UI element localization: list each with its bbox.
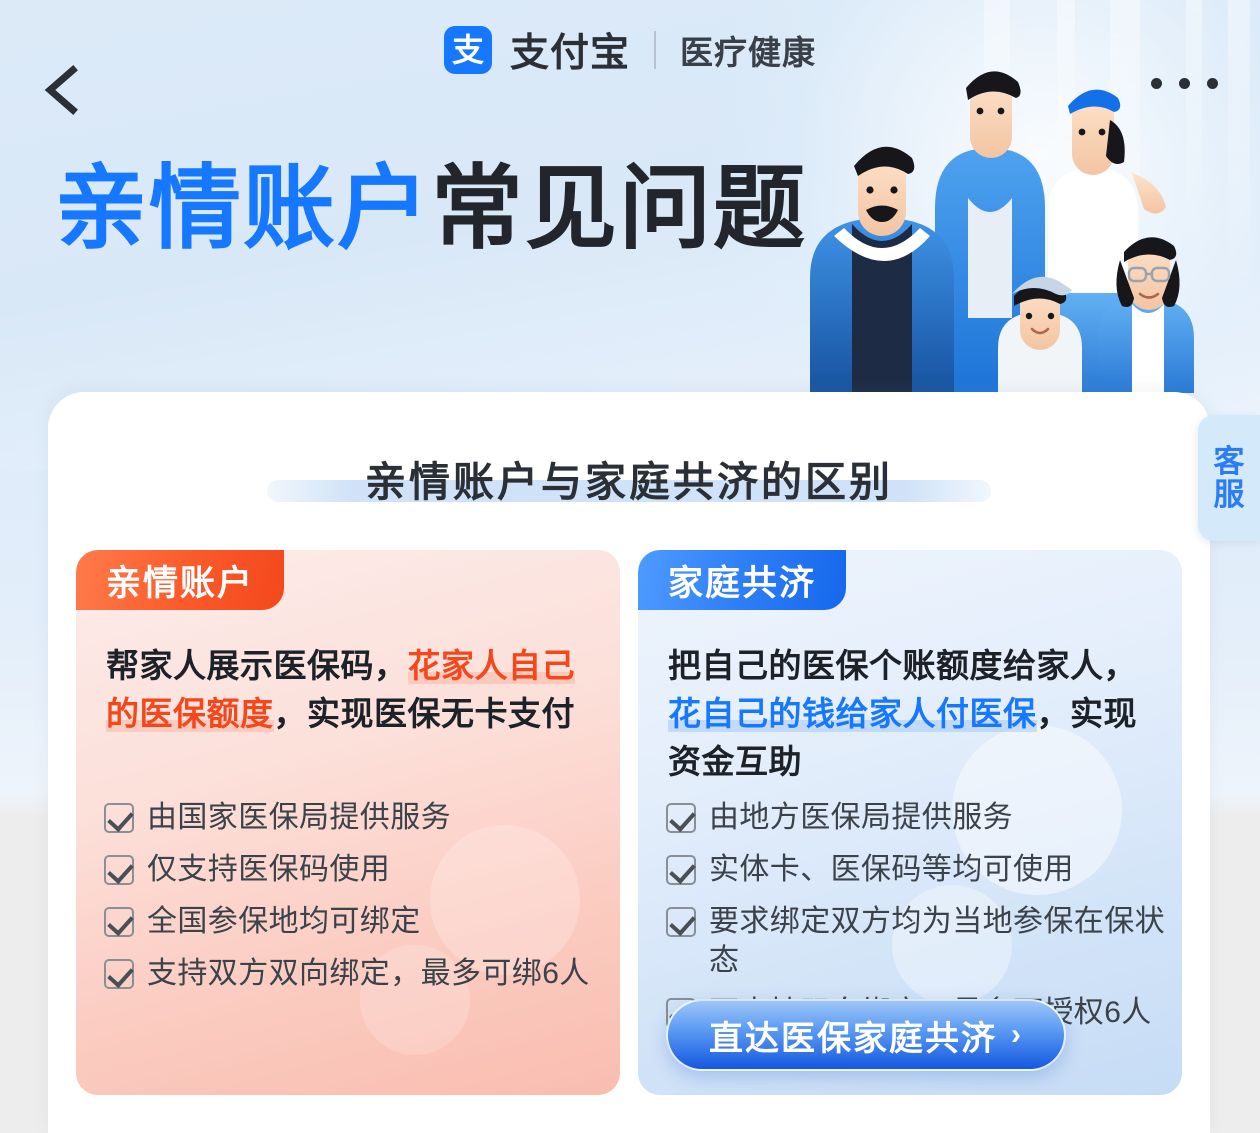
brand-subtitle: 医疗健康 [680,26,816,74]
feature-item: 由国家医保局提供服务 [104,798,604,837]
card-qinqing-zhanghu: 亲情账户 帮家人展示医保码，花家人自己的医保额度，实现医保无卡支付 由国家医保局… [76,550,620,1095]
check-icon [666,803,696,833]
feature-item: 全国参保地均可绑定 [104,902,604,941]
chevron-left-icon [36,62,92,118]
desc-plain-1: 帮家人展示医保码， [106,647,408,684]
feature-label: 由地方医保局提供服务 [709,798,1013,837]
alipay-logo-glyph: 支 [452,34,484,66]
brand-name: 支付宝 [510,22,630,78]
feature-item: 由地方医保局提供服务 [666,798,1166,837]
card-badge-left: 亲情账户 [76,550,284,610]
page-title: 亲情账户常见问题 [55,163,807,255]
page-title-rest: 常见问题 [431,158,807,260]
cta-label: 直达医保家庭共济 [709,1011,997,1060]
check-icon [104,959,134,989]
card-description-right: 把自己的医保个账额度给家人，花自己的钱给家人付医保，实现资金互助 [668,642,1160,786]
more-dots-icon[interactable] [1151,78,1218,89]
feature-label: 全国参保地均可绑定 [147,902,421,941]
top-bar: 支 支付宝 医疗健康 [0,0,1260,110]
feature-label: 实体卡、医保码等均可使用 [709,850,1074,889]
goto-family-mutual-aid-button[interactable]: 直达医保家庭共济 › [666,999,1066,1071]
feature-label: 要求绑定双方均为当地参保在保状态 [709,902,1166,980]
card-jiating-gongji: 家庭共济 把自己的医保个账额度给家人，花自己的钱给家人付医保，实现资金互助 由地… [638,550,1182,1095]
customer-service-label-line1: 客 [1214,445,1245,478]
content-panel: 亲情账户与家庭共济的区别 亲情账户 帮家人展示医保码，花家人自己的医保额度，实现… [48,392,1210,1133]
check-icon [104,855,134,885]
desc-highlight: 花自己的钱给家人付医保 [668,695,1037,732]
feature-label: 由国家医保局提供服务 [147,798,451,837]
back-button[interactable] [36,62,92,118]
section-heading: 亲情账户与家庭共济的区别 [259,448,999,504]
check-icon [666,855,696,885]
check-icon [666,907,696,937]
brand-divider [654,31,656,69]
comparison-cards: 亲情账户 帮家人展示医保码，花家人自己的医保额度，实现医保无卡支付 由国家医保局… [76,550,1182,1095]
feature-label: 仅支持医保码使用 [147,850,390,889]
feature-item: 仅支持医保码使用 [104,850,604,889]
feature-list-left: 由国家医保局提供服务 仅支持医保码使用 全国参保地均可绑定 支持双方双向绑定，最… [104,798,604,1006]
card-description-left: 帮家人展示医保码，花家人自己的医保额度，实现医保无卡支付 [106,642,598,738]
check-icon [104,803,134,833]
chevron-right-icon: › [1011,1018,1023,1052]
feature-item: 实体卡、医保码等均可使用 [666,850,1166,889]
desc-plain-2: ，实现医保无卡支付 [274,695,576,732]
customer-service-tab[interactable]: 客 服 [1198,415,1260,541]
check-icon [104,907,134,937]
section-heading-text: 亲情账户与家庭共济的区别 [365,459,893,505]
brand-header: 支 支付宝 医疗健康 [444,22,816,78]
feature-item: 要求绑定双方均为当地参保在保状态 [666,902,1166,980]
page-title-highlight: 亲情账户 [55,158,431,260]
desc-plain-1: 把自己的医保个账额度给家人， [668,647,1137,684]
customer-service-label-line2: 服 [1214,478,1245,511]
feature-item: 支持双方双向绑定，最多可绑6人 [104,954,604,993]
card-badge-right: 家庭共济 [638,550,846,610]
alipay-logo-icon: 支 [444,26,492,74]
app-screen: 支 支付宝 医疗健康 亲情账户常见问题 客 服 亲情账户与家庭共济的区别 [0,0,1260,1133]
feature-label: 支持双方双向绑定，最多可绑6人 [147,954,590,993]
